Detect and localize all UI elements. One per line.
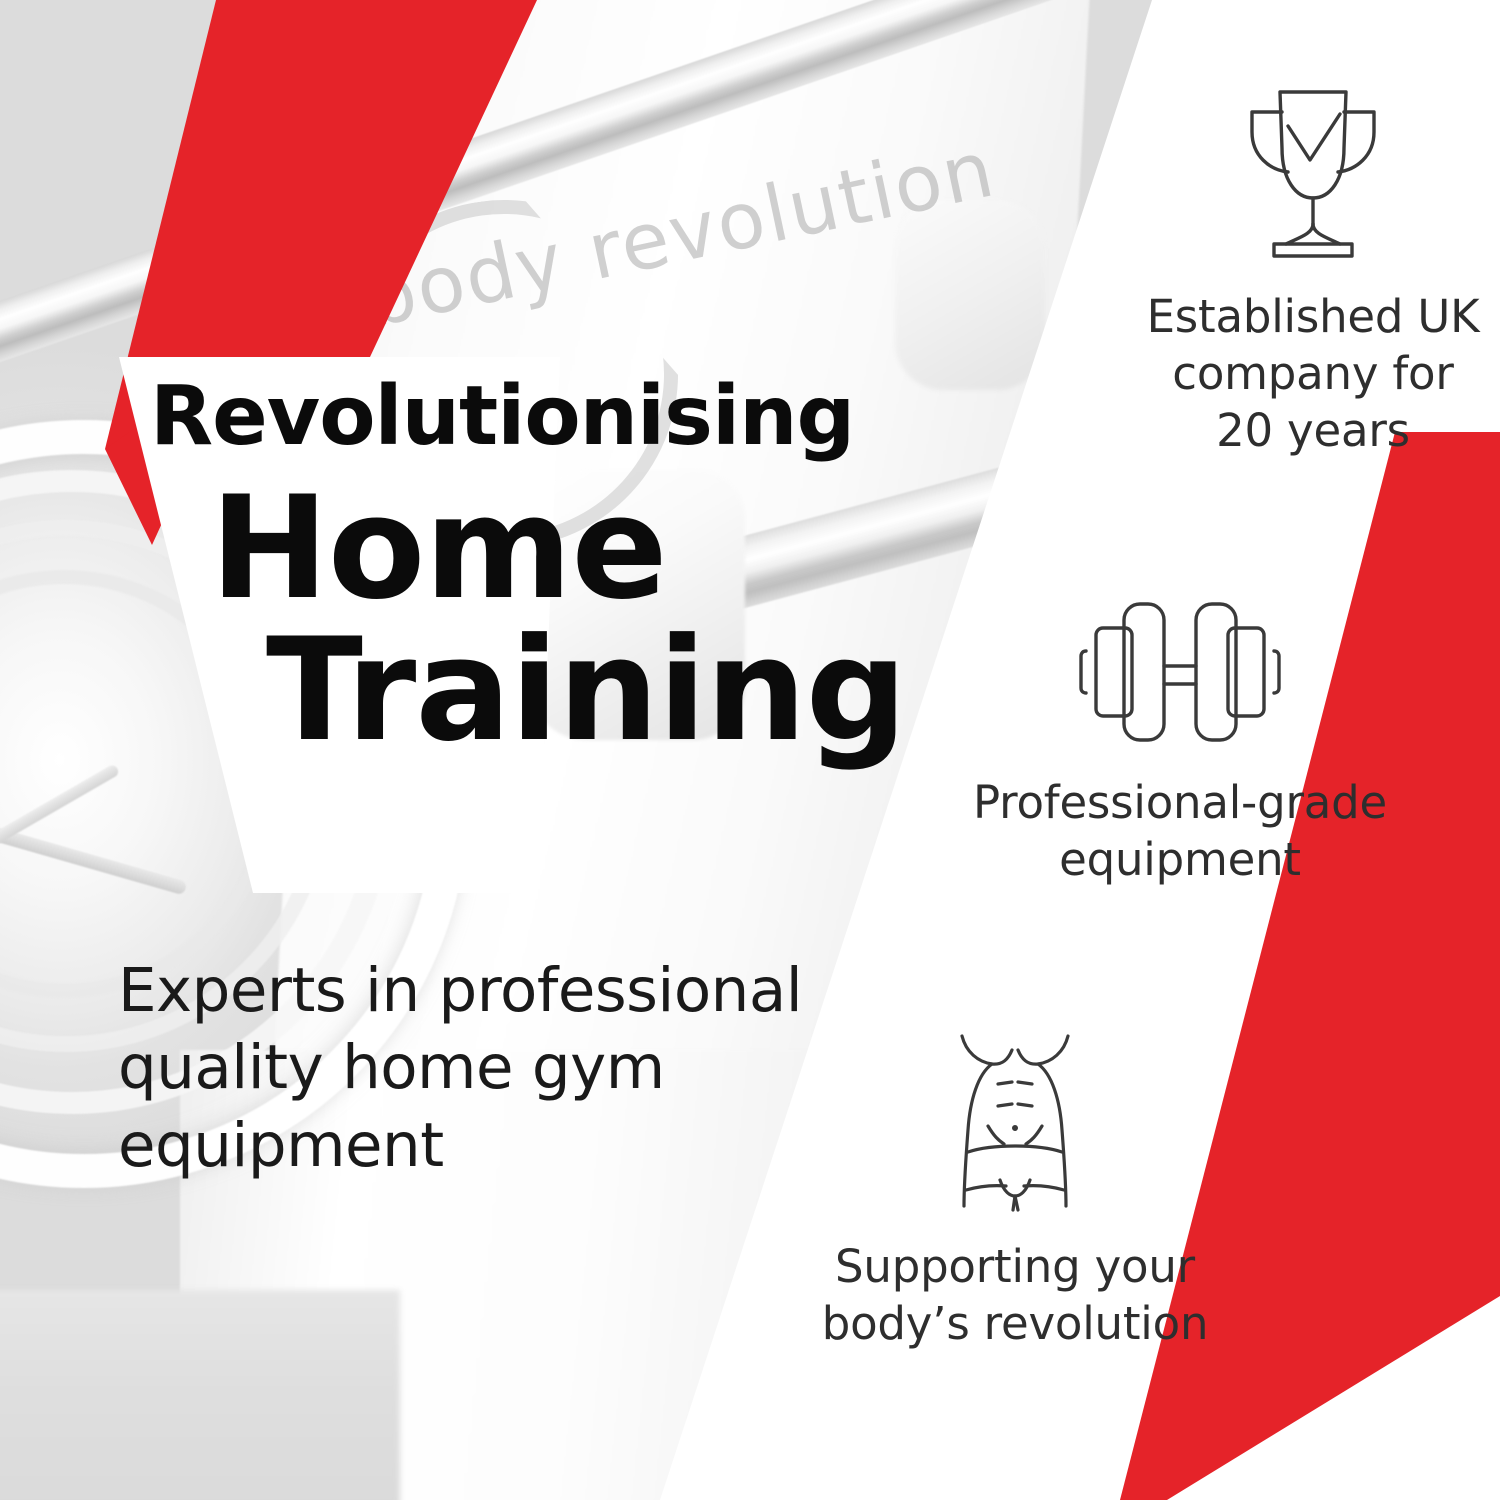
feature-item-equipment: Professional-grade equipment xyxy=(965,596,1395,888)
feature-item-body: Supporting your body’s revolution xyxy=(800,1030,1230,1352)
dumbbell-icon xyxy=(965,596,1395,748)
feature-caption: Supporting your body’s revolution xyxy=(800,1238,1230,1352)
feature-item-established: Established UK company for 20 years xyxy=(1098,86,1500,459)
feature-list: Established UK company for 20 years Prof… xyxy=(0,0,1500,1500)
feature-caption: Professional-grade equipment xyxy=(965,774,1395,888)
promotional-banner: body revolution Revolutionising Home Tra… xyxy=(0,0,1500,1500)
torso-abs-icon xyxy=(800,1030,1230,1212)
trophy-check-icon xyxy=(1098,86,1500,262)
feature-caption: Established UK company for 20 years xyxy=(1098,288,1500,459)
